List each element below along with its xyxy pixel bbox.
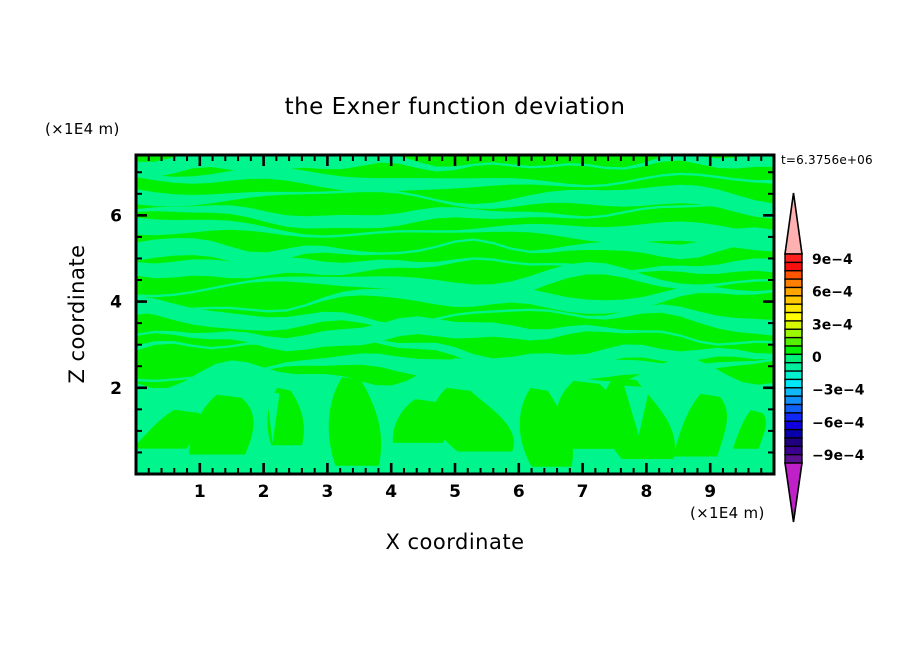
x-tick-label-2: 2 xyxy=(258,482,270,502)
colorbar-band-17 xyxy=(785,396,802,405)
x-tick-label-6: 6 xyxy=(513,482,525,502)
time-stamp-label: t=6.3756e+06 xyxy=(781,153,873,167)
colorbar-band-16 xyxy=(785,388,802,397)
colorbar-label-6: −9e−4 xyxy=(812,448,865,464)
colorbar-band-12 xyxy=(785,354,802,363)
colorbar-label-5: −6e−4 xyxy=(812,415,865,431)
plot-title: the Exner function deviation xyxy=(285,94,626,120)
colorbar-band-4 xyxy=(785,287,802,296)
colorbar[interactable] xyxy=(785,193,802,522)
x-axis-units-label: (×1E4 m) xyxy=(690,504,765,522)
colorbar-label-2: 3e−4 xyxy=(812,317,853,333)
colorbar-band-5 xyxy=(785,296,802,305)
colorbar-band-7 xyxy=(785,313,802,322)
y-tick-label-2: 2 xyxy=(110,379,122,399)
x-tick-label-5: 5 xyxy=(449,482,461,502)
colorbar-band-1 xyxy=(785,262,802,271)
colorbar-band-8 xyxy=(785,321,802,330)
x-tick-label-1: 1 xyxy=(194,482,206,502)
colorbar-band-0 xyxy=(785,254,802,263)
colorbar-label-0: 9e−4 xyxy=(812,252,853,268)
colorbar-band-13 xyxy=(785,363,802,372)
colorbar-band-20 xyxy=(785,421,802,430)
colorbar-band-21 xyxy=(785,430,802,439)
colorbar-label-3: 0 xyxy=(812,350,822,366)
colorbar-label-1: 6e−4 xyxy=(812,285,853,301)
colorbar-band-18 xyxy=(785,404,802,413)
x-tick-label-3: 3 xyxy=(321,482,333,502)
contour-plot-figure: the Exner function deviation (×1E4 m) t=… xyxy=(0,0,904,654)
colorbar-band-3 xyxy=(785,279,802,288)
contour-field xyxy=(133,150,774,474)
x-tick-label-8: 8 xyxy=(640,482,652,502)
colorbar-band-19 xyxy=(785,413,802,422)
colorbar-band-10 xyxy=(785,338,802,347)
colorbar-band-6 xyxy=(785,304,802,313)
y-tick-label-4: 4 xyxy=(110,293,122,313)
x-axis-title: X coordinate xyxy=(385,530,524,554)
y-tick-label-6: 6 xyxy=(110,206,122,226)
x-tick-label-4: 4 xyxy=(385,482,397,502)
colorbar-band-11 xyxy=(785,346,802,355)
x-tick-label-9: 9 xyxy=(704,482,716,502)
colorbar-band-2 xyxy=(785,271,802,280)
colorbar-band-24 xyxy=(785,455,802,464)
colorbar-band-23 xyxy=(785,446,802,455)
colorbar-band-9 xyxy=(785,329,802,338)
y-axis-title: Z coordinate xyxy=(65,244,89,383)
colorbar-band-14 xyxy=(785,371,802,380)
colorbar-band-22 xyxy=(785,438,802,447)
x-tick-label-7: 7 xyxy=(577,482,589,502)
colorbar-label-4: −3e−4 xyxy=(812,383,865,399)
colorbar-band-15 xyxy=(785,379,802,388)
y-axis-units-label: (×1E4 m) xyxy=(45,120,120,138)
